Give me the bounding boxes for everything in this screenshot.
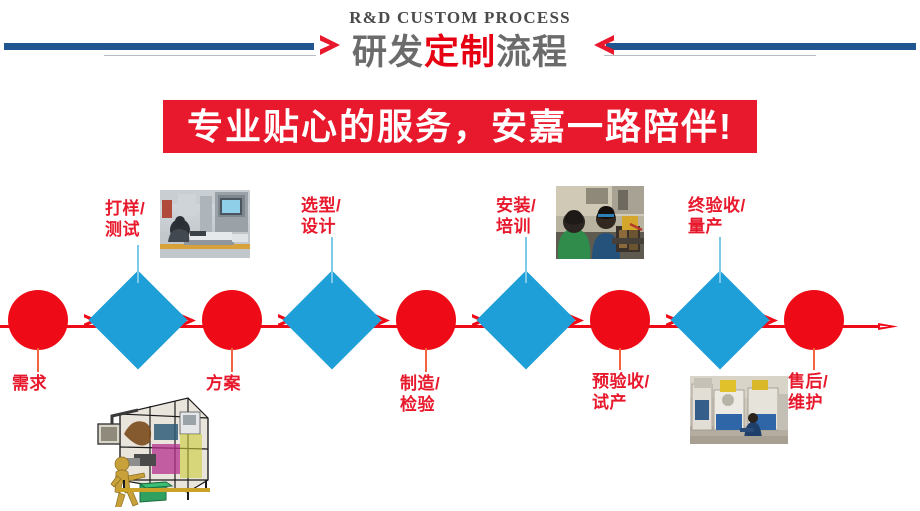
step-6-label-line2: 培训 xyxy=(496,217,531,236)
step-7-circle[interactable] xyxy=(590,290,650,350)
step-3-circle[interactable] xyxy=(202,290,262,350)
step-4-label-line1: 选型/ xyxy=(301,196,341,215)
step-9-label: 售后/ 维护 xyxy=(788,371,828,413)
step-8-connector xyxy=(719,237,721,283)
step-7-connector xyxy=(619,348,621,370)
factory-workshop-photo xyxy=(690,376,788,444)
step-8-label-line1: 终验收/ xyxy=(688,196,746,215)
header-title-segment-2: 流程 xyxy=(496,33,568,72)
step-9-connector xyxy=(813,348,815,370)
step-1-connector xyxy=(37,348,39,372)
step-6-connector xyxy=(525,237,527,283)
header-english-title: R&D CUSTOM PROCESS xyxy=(0,8,920,28)
step-7-label: 预验收/ 试产 xyxy=(592,371,650,413)
factory-assembly-photo xyxy=(556,186,644,259)
header-chinese-title: 研发定制流程 xyxy=(0,32,920,74)
header-title-emphasis: 定制 xyxy=(424,33,496,72)
step-5-label: 制造/ 检验 xyxy=(400,373,440,415)
step-5-label-line2: 检验 xyxy=(400,395,435,414)
step-6-diamond[interactable] xyxy=(477,271,576,370)
step-7-label-line1: 预验收/ xyxy=(592,372,650,391)
step-3-connector xyxy=(231,348,233,372)
step-2-label-line1: 打样/ xyxy=(105,199,145,218)
step-2-label: 打样/ 测试 xyxy=(105,198,145,240)
step-1-circle[interactable] xyxy=(8,290,68,350)
step-7-label-line2: 试产 xyxy=(592,393,627,412)
step-2-connector xyxy=(137,245,139,283)
step-9-label-line2: 维护 xyxy=(788,393,823,412)
step-4-label: 选型/ 设计 xyxy=(301,195,341,237)
step-8-label-line2: 量产 xyxy=(688,217,723,236)
slide-header: R&D CUSTOM PROCESS 研发定制流程 xyxy=(0,0,920,90)
factory-testing-photo xyxy=(160,190,250,258)
slogan-banner: 专业贴心的服务，安嘉一路陪伴! xyxy=(163,100,757,153)
header-title-segment-1: 研发 xyxy=(352,33,424,72)
step-9-circle[interactable] xyxy=(784,290,844,350)
step-5-connector xyxy=(425,348,427,372)
step-5-label-line1: 制造/ xyxy=(400,374,440,393)
step-8-label: 终验收/ 量产 xyxy=(688,195,746,237)
step-6-label: 安装/ 培训 xyxy=(496,195,536,237)
step-8-diamond[interactable] xyxy=(671,271,770,370)
step-5-circle[interactable] xyxy=(396,290,456,350)
step-9-label-line1: 售后/ xyxy=(788,372,828,391)
step-4-label-line2: 设计 xyxy=(301,217,336,236)
step-2-label-line2: 测试 xyxy=(105,220,140,239)
slide-canvas: R&D CUSTOM PROCESS 研发定制流程 专业贴心的服务，安嘉一路陪伴… xyxy=(0,0,920,511)
step-6-label-line1: 安装/ xyxy=(496,196,536,215)
machine-cad-render xyxy=(80,372,212,507)
step-1-label: 需求 xyxy=(12,373,47,394)
step-4-diamond[interactable] xyxy=(283,271,382,370)
slogan-text: 专业贴心的服务，安嘉一路陪伴! xyxy=(187,105,733,149)
step-2-diamond[interactable] xyxy=(89,271,188,370)
step-4-connector xyxy=(331,237,333,283)
